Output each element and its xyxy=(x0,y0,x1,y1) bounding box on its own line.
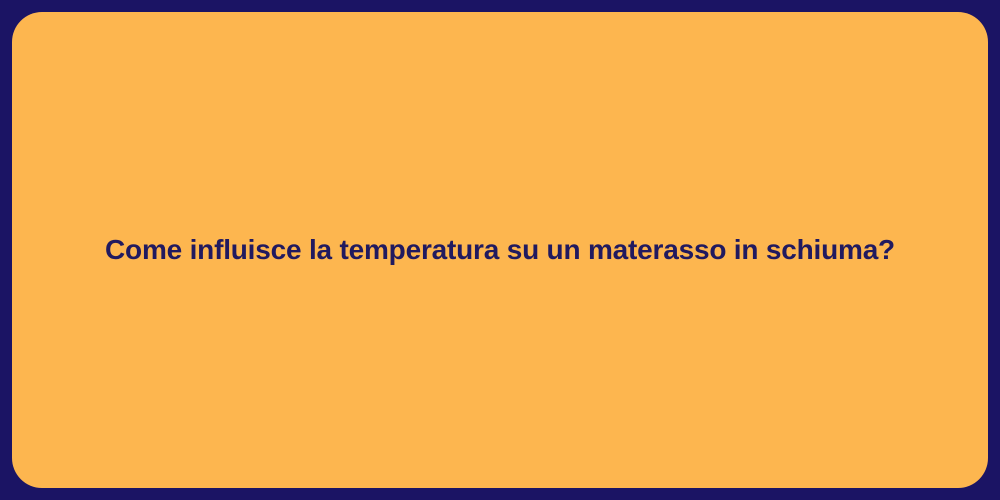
question-card: Come influisce la temperatura su un mate… xyxy=(12,12,988,488)
question-headline: Come influisce la temperatura su un mate… xyxy=(105,232,895,267)
outer-navy-frame: Come influisce la temperatura su un mate… xyxy=(0,0,1000,500)
